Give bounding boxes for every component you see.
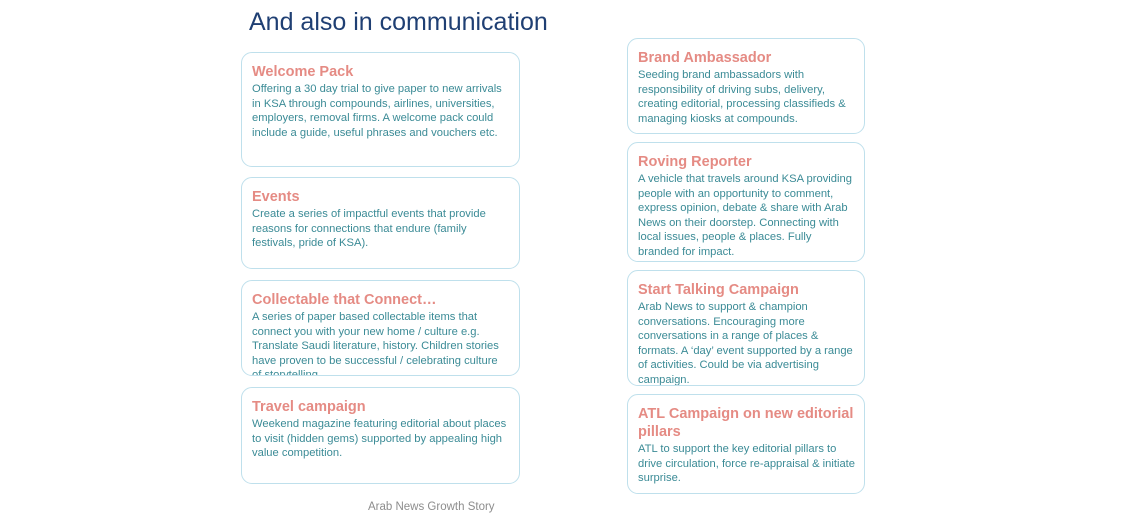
- idea-card-atl-campaign[interactable]: ATL Campaign on new editorial pillars AT…: [627, 394, 865, 494]
- card-body: Offering a 30 day trial to give paper to…: [252, 82, 510, 140]
- right-column: Brand Ambassador Seeding brand ambassado…: [627, 38, 865, 502]
- card-title: Roving Reporter: [638, 153, 855, 171]
- slide-canvas: And also in communication Welcome Pack O…: [0, 0, 1138, 519]
- card-body: Weekend magazine featuring editorial abo…: [252, 417, 510, 461]
- card-body: ATL to support the key editorial pillars…: [638, 442, 855, 486]
- card-body: A series of paper based collectable item…: [252, 310, 510, 376]
- idea-card-collectable-that-connect[interactable]: Collectable that Connect… A series of pa…: [241, 280, 520, 376]
- card-body: Seeding brand ambassadors with responsib…: [638, 68, 855, 126]
- card-body: A vehicle that travels around KSA provid…: [638, 172, 855, 260]
- idea-card-events[interactable]: Events Create a series of impactful even…: [241, 177, 520, 269]
- card-title: Travel campaign: [252, 398, 510, 416]
- card-title: Brand Ambassador: [638, 49, 855, 67]
- left-column: Welcome Pack Offering a 30 day trial to …: [241, 52, 520, 495]
- card-body: Create a series of impactful events that…: [252, 207, 510, 251]
- card-body: Arab News to support & champion conversa…: [638, 300, 855, 386]
- card-title: Events: [252, 188, 510, 206]
- card-title: Collectable that Connect…: [252, 291, 510, 309]
- page-title: And also in communication: [249, 7, 548, 37]
- idea-card-roving-reporter[interactable]: Roving Reporter A vehicle that travels a…: [627, 142, 865, 262]
- idea-card-start-talking-campaign[interactable]: Start Talking Campaign Arab News to supp…: [627, 270, 865, 386]
- card-title: ATL Campaign on new editorial pillars: [638, 405, 855, 441]
- idea-card-travel-campaign[interactable]: Travel campaign Weekend magazine featuri…: [241, 387, 520, 484]
- idea-card-brand-ambassador[interactable]: Brand Ambassador Seeding brand ambassado…: [627, 38, 865, 134]
- card-title: Welcome Pack: [252, 63, 510, 81]
- idea-card-welcome-pack[interactable]: Welcome Pack Offering a 30 day trial to …: [241, 52, 520, 167]
- footer-note: Arab News Growth Story: [368, 500, 495, 514]
- card-title: Start Talking Campaign: [638, 281, 855, 299]
